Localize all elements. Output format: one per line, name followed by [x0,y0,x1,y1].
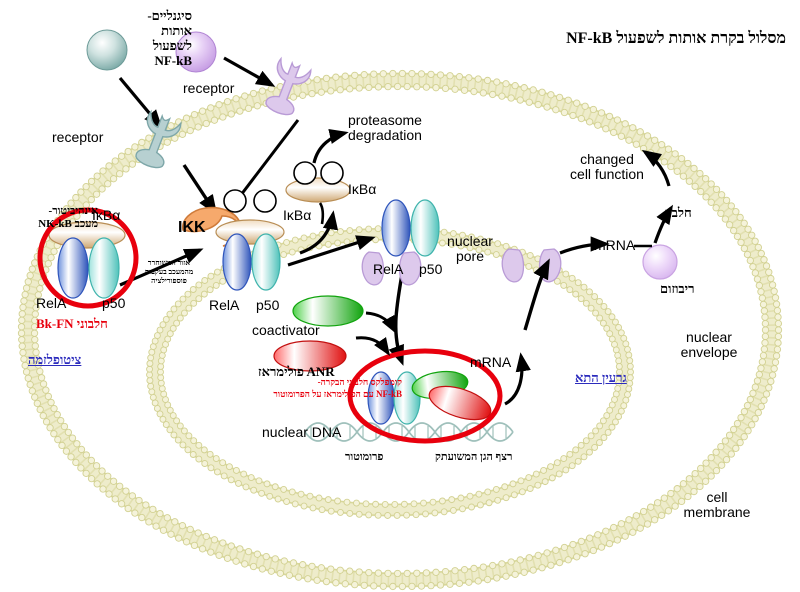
p50-subunit [252,234,280,290]
ikba-label-left: IκBα [92,208,120,223]
ikba-label-center: IκBα [283,208,311,223]
mrna-nucleus-label: mRNA [470,355,511,370]
changed-line-1: changed [552,152,662,167]
rela-subunit [223,234,251,290]
p50-label-center: p50 [256,298,279,313]
signals-line-4: NF-kB [122,53,192,68]
signal-molecule-teal [87,30,127,70]
complex-note-line-2: NF-kB עם הפולימראז על הפרומוטור [232,388,402,400]
coactivator-label: coactivator [252,323,320,338]
inhibitor-line-2: מעכב NK-kB [2,218,98,231]
changed-cell-function-label: changed cell function [552,152,662,182]
rela-subunit [382,200,410,256]
phosphate-group-icon [321,162,343,184]
nuclear-envelope-line-1: nuclear [664,330,754,345]
nucleus-label: גרעין התא [575,370,627,385]
release-note-line-1: אזור המשוחרר [138,258,200,267]
ribosome-label: ריבוזום [660,281,694,296]
mrna-cytoplasm-label: mRNA [594,238,635,253]
proteasome-line-1: proteasome [348,113,422,128]
protein-label: חלבון [665,205,692,220]
nuclear-pore-label: nuclear pore [441,234,499,264]
release-note-line-2: מהמעכב בעקבות [138,267,200,276]
phosphate-group-icon [294,162,316,184]
nuclear-dna-label: nuclear DNA [262,425,341,440]
release-note-line-3: פוספורילציה [138,276,200,285]
diagram-title: מסלול בקרת אותות לשפעול NF-kB [486,30,786,48]
ribosome [643,245,677,279]
p50-label-left: p50 [102,296,125,311]
nuclear-envelope-label: nuclear envelope [664,330,754,360]
ikba-released-phospho [286,162,350,202]
arrow-receptor-left-to-ikk [184,165,215,212]
nuclear-pore-line-2: pore [441,249,499,264]
release-note: אזור המשוחרר מהמעכב בעקבות פוספורילציה [138,258,200,285]
rela-subunit [58,238,88,298]
p50-label-free: p50 [419,262,442,277]
p50-subunit [411,200,439,256]
receptor-left-label: receptor [52,130,103,145]
cell-membrane-line-1: cell [672,490,762,505]
complex-note-line-1: קומפלקס חלבוני הבקרה- [232,376,402,388]
nuclear-envelope-line-2: envelope [664,345,754,360]
rela-label-left: RelA [36,296,66,311]
complex-note: קומפלקס חלבוני הבקרה- NF-kB עם הפולימראז… [232,376,402,400]
changed-line-2: cell function [552,167,662,182]
signals-label: סיגנליים- אותות לשפעול NF-kB [122,8,192,68]
proteasome-degradation-label: proteasome degradation [348,113,422,143]
phosphate-group-icon [254,190,276,212]
receptor-right-label: receptor [183,81,234,96]
arrow-signal-to-receptor-left [120,78,160,126]
arrow-ikba-to-proteasome [314,133,345,163]
signals-line-3: לשפעול [122,38,192,53]
p50-subunit [89,238,119,298]
transcribed-gene-label: רצף הגן המשועתק [435,451,512,464]
nfkb-proteins-label: חלבוני NF-kB [36,316,108,331]
phosphate-group-icon [224,190,246,212]
cell-membrane-label: cell membrane [672,490,762,520]
signals-line-1: סיגנליים- [122,8,192,23]
ikba-label-top: IκBα [348,182,376,197]
cytoplasm-label: ציטופלזמה [28,352,81,367]
promoter-label: פרומוטור [345,451,383,464]
cell-membrane-line-2: membrane [672,505,762,520]
rela-label-free: RelA [373,262,403,277]
proteasome-line-2: degradation [348,128,422,143]
rela-label-center: RelA [209,298,239,313]
signals-line-2: אותות [122,23,192,38]
inhibitor-label: אינהיביטור- מעכב NK-kB [2,205,98,231]
arrow-release-ikba [320,203,323,224]
diagram-canvas: מסלול בקרת אותות לשפעול NF-kB סיגנליים- … [0,0,800,592]
inhibitor-line-1: אינהיביטור- [2,205,98,218]
nfkb-phosphorylated-complex [216,190,284,290]
ikk-label: IKK [178,220,206,235]
nuclear-pore-line-1: nuclear [441,234,499,249]
